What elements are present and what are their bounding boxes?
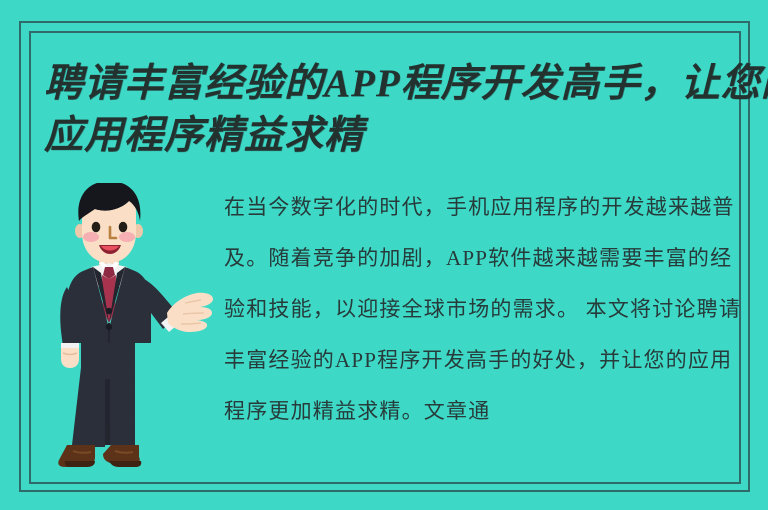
cheek-blush-left (83, 232, 99, 242)
shoes-group (58, 445, 141, 467)
businessman-illustration (55, 183, 220, 483)
eye-right (119, 222, 128, 233)
page-title: 聘请丰富经验的APP程序开发高手，让您的应用程序精益求精 (44, 58, 768, 162)
article-body-text: 在当今数字化的时代，手机应用程序的开发越来越普及。随着竞争的加剧，APP软件越来… (224, 182, 752, 437)
poster-canvas: 聘请丰富经验的APP程序开发高手，让您的应用程序精益求精 在当今数字化的时代，手… (0, 0, 768, 510)
cheek-blush-right (119, 232, 135, 242)
head-group (75, 183, 143, 263)
eye-left (92, 222, 101, 233)
trousers-group (72, 333, 135, 447)
